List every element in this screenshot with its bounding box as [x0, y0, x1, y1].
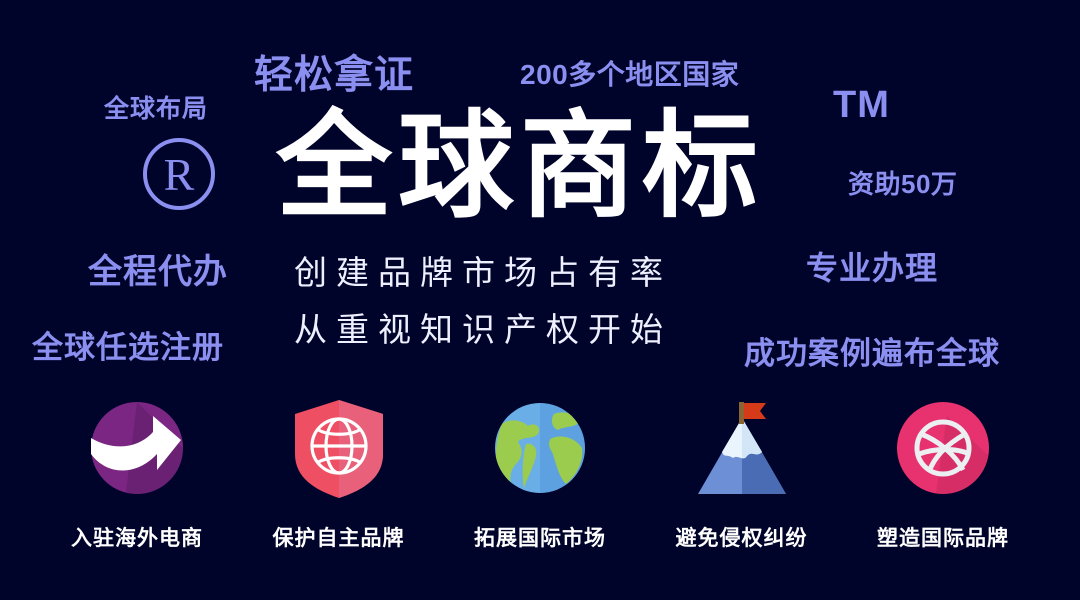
feature-item-protect-brand[interactable]: 保护自主品牌: [244, 396, 434, 552]
hero-subtitle-line-2: 从重视知识产权开始: [294, 303, 672, 351]
feature-row: 入驻海外电商 保护自主品牌: [0, 396, 1080, 552]
shield-globe-icon: [287, 396, 391, 500]
earth-globe-icon: [488, 396, 592, 500]
feature-item-build-brand[interactable]: 塑造国际品牌: [848, 396, 1038, 552]
tag-professional-handling: 专业办理: [806, 243, 938, 289]
svg-text:R: R: [164, 149, 195, 200]
poster-canvas: 全球布局 R 全程代办 全球任选注册 轻松拿证 200多个地区国家 TM 资助5…: [0, 0, 1080, 600]
mountain-flag-icon: [690, 396, 794, 500]
feature-item-overseas-ecommerce[interactable]: 入驻海外电商: [42, 396, 232, 552]
feature-label: 入驻海外电商: [71, 522, 203, 552]
feature-label: 塑造国际品牌: [877, 522, 1009, 552]
registered-trademark-icon: R: [135, 130, 223, 218]
curved-arrow-circle-icon: [85, 396, 189, 500]
tag-trademark-symbol: TM: [833, 84, 890, 127]
hero-subtitle-line-1: 创建品牌市场占有率: [294, 246, 672, 294]
feature-label: 保护自主品牌: [273, 522, 405, 552]
tag-full-agency: 全程代办: [88, 244, 228, 293]
tag-global-layout: 全球布局: [104, 89, 208, 125]
tag-global-optional-registration: 全球任选注册: [32, 322, 224, 367]
feature-item-expand-market[interactable]: 拓展国际市场: [445, 396, 635, 552]
feature-label: 拓展国际市场: [474, 522, 606, 552]
tag-two-hundred-countries: 200多个地区国家: [520, 53, 739, 93]
tag-success-cases: 成功案例遍布全球: [744, 328, 1000, 373]
feature-item-avoid-infringement[interactable]: 避免侵权纠纷: [647, 396, 837, 552]
tag-easy-certificate: 轻松拿证: [254, 44, 414, 100]
page-title: 全球商标: [276, 108, 764, 224]
tag-subsidy: 资助50万: [848, 164, 957, 201]
feature-label: 避免侵权纠纷: [676, 522, 808, 552]
basketball-circle-icon: [891, 396, 995, 500]
